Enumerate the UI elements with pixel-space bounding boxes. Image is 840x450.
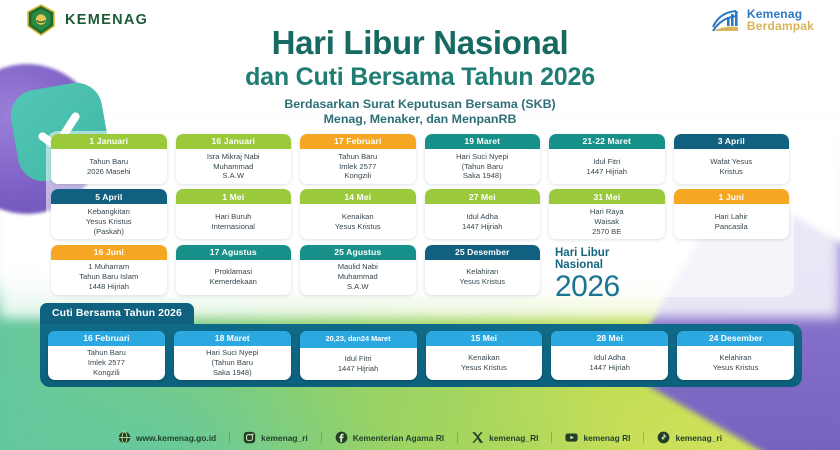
holiday-name: Hari LahirPancasila [674, 204, 790, 239]
page-subtitle: dan Cuti Bersama Tahun 2026 [0, 63, 840, 91]
cuti-name: Tahun BaruImlek 2577Kongzili [48, 346, 165, 380]
holiday-card: 3 AprilWafat YesusKristus [674, 134, 790, 184]
cuti-bersama-grid: 16 FebruariTahun BaruImlek 2577Kongzili1… [40, 324, 802, 387]
holiday-card: 25 AgustusMaulid NabiMuhammadS.A.W [300, 245, 416, 295]
holiday-card: 19 MaretHari Suci Nyepi(Tahun BaruSaka 1… [425, 134, 541, 184]
holiday-card: 14 MeiKenaikanYesus Kristus [300, 189, 416, 239]
holiday-card: 5 AprilKebangkitanYesus Kristus(Paskah) [51, 189, 167, 239]
cuti-card: 24 DesemberKelahiranYesus Kristus [677, 331, 794, 380]
holiday-date: 25 Desember [425, 245, 541, 260]
holiday-name: Hari RayaWaisak2570 BE [549, 204, 665, 239]
holiday-name: Wafat YesusKristus [674, 149, 790, 184]
cuti-card: 28 MeiIdul Adha1447 Hijriah [551, 331, 668, 380]
footer-handle-text: kemenag_RI [489, 433, 538, 443]
national-year-value: 2026 [555, 272, 665, 302]
cuti-date: 18 Maret [174, 331, 291, 346]
cuti-date: 24 Desember [677, 331, 794, 346]
holiday-name: KebangkitanYesus Kristus(Paskah) [51, 204, 167, 239]
holiday-date: 25 Agustus [300, 245, 416, 260]
footer-youtube-item[interactable]: kemenag RI [565, 431, 630, 444]
holiday-card: 1 JuniHari LahirPancasila [674, 189, 790, 239]
holiday-card: 25 DesemberKelahiranYesus Kristus [425, 245, 541, 295]
footer-handle-text: www.kemenag.go.id [136, 433, 216, 443]
poster-root: KEMENAG Kemenag Berdampak [0, 0, 840, 450]
cuti-card: 16 FebruariTahun BaruImlek 2577Kongzili [48, 331, 165, 380]
national-holidays-panel: 1 JanuariTahun Baru2026 Masehi16 Januari… [46, 131, 794, 297]
cuti-bersama-section: Cuti Bersama Tahun 2026 16 FebruariTahun… [40, 303, 802, 387]
youtube-icon [565, 431, 578, 444]
footer-handle-text: Kementerian Agama RI [353, 433, 444, 443]
holiday-card: 17 FebruariTahun BaruImlek 2577Kongzili [300, 134, 416, 184]
page-title: Hari Libur Nasional [0, 26, 840, 61]
holiday-date: 31 Mei [549, 189, 665, 204]
footer-handle-text: kemenag_ri [261, 433, 308, 443]
cuti-date: 20,23, dan24 Maret [300, 331, 417, 348]
holiday-name: ProklamasiKemerdekaan [176, 260, 292, 295]
national-year-label: Hari LiburNasional [555, 247, 665, 273]
holiday-name: Hari BuruhInternasional [176, 204, 292, 239]
cuti-bersama-title: Cuti Bersama Tahun 2026 [40, 303, 194, 324]
holiday-card: 17 AgustusProklamasiKemerdekaan [176, 245, 292, 295]
holiday-date: 16 Januari [176, 134, 292, 149]
website-icon [118, 431, 131, 444]
cuti-card: 15 MeiKenaikanYesus Kristus [426, 331, 543, 380]
footer-x-twitter-item[interactable]: kemenag_RI [471, 431, 538, 444]
facebook-icon [335, 431, 348, 444]
footer-separator [229, 432, 230, 443]
cuti-name: KenaikanYesus Kristus [426, 346, 543, 380]
holiday-date: 17 Februari [300, 134, 416, 149]
holiday-name: KenaikanYesus Kristus [300, 204, 416, 239]
tiktok-icon [657, 431, 670, 444]
holiday-name: Idul Fitri1447 Hijriah [549, 149, 665, 184]
holiday-card: 21-22 MaretIdul Fitri1447 Hijriah [549, 134, 665, 184]
holiday-name: Hari Suci Nyepi(Tahun BaruSaka 1948) [425, 149, 541, 184]
holiday-date: 17 Agustus [176, 245, 292, 260]
holiday-name: Tahun Baru2026 Masehi [51, 149, 167, 184]
footer-separator [321, 432, 322, 443]
holiday-card: 1 JanuariTahun Baru2026 Masehi [51, 134, 167, 184]
cuti-name: Idul Fitri1447 Hijriah [300, 348, 417, 380]
national-year-block: Hari LiburNasional2026 [549, 247, 665, 303]
holiday-name: Idul Adha1447 Hijriah [425, 204, 541, 239]
cuti-name: Hari Suci Nyepi(Tahun BaruSaka 1948) [174, 346, 291, 380]
holiday-date: 1 Januari [51, 134, 167, 149]
holiday-card: 16 Juni1 MuharramTahun Baru Islam1448 Hi… [51, 245, 167, 295]
footer-separator [643, 432, 644, 443]
footer-tiktok-item[interactable]: kemenag_ri [657, 431, 722, 444]
holiday-date: 3 April [674, 134, 790, 149]
footer-handle-text: kemenag RI [583, 433, 630, 443]
legal-basis-line2: Menag, Menaker, dan MenpanRB [0, 112, 840, 128]
footer-website-item[interactable]: www.kemenag.go.id [118, 431, 216, 444]
holiday-name: Isra Mikraj NabiMuhammadS.A.W [176, 149, 292, 184]
footer-separator [551, 432, 552, 443]
holiday-card: 1 MeiHari BuruhInternasional [176, 189, 292, 239]
cuti-name: Idul Adha1447 Hijriah [551, 346, 668, 380]
social-footer: www.kemenag.go.idkemenag_riKementerian A… [0, 431, 840, 444]
legal-basis-line1: Berdasarkan Surat Keputusan Bersama (SKB… [0, 97, 840, 113]
cuti-name: KelahiranYesus Kristus [677, 346, 794, 380]
holiday-name: KelahiranYesus Kristus [425, 260, 541, 295]
holiday-date: 21-22 Maret [549, 134, 665, 149]
national-holidays-grid: 1 JanuariTahun Baru2026 Masehi16 Januari… [46, 131, 794, 297]
holiday-card: 31 MeiHari RayaWaisak2570 BE [549, 189, 665, 239]
holiday-name: Tahun BaruImlek 2577Kongzili [300, 149, 416, 184]
cuti-card: 18 MaretHari Suci Nyepi(Tahun BaruSaka 1… [174, 331, 291, 380]
holiday-name: Maulid NabiMuhammadS.A.W [300, 260, 416, 295]
cuti-date: 15 Mei [426, 331, 543, 346]
footer-handle-text: kemenag_ri [675, 433, 722, 443]
holiday-card: 16 JanuariIsra Mikraj NabiMuhammadS.A.W [176, 134, 292, 184]
page-legal-basis: Berdasarkan Surat Keputusan Bersama (SKB… [0, 97, 840, 128]
x-twitter-icon [471, 431, 484, 444]
footer-facebook-item[interactable]: Kementerian Agama RI [335, 431, 444, 444]
cuti-date: 28 Mei [551, 331, 668, 346]
instagram-icon [243, 431, 256, 444]
cuti-card: 20,23, dan24 MaretIdul Fitri1447 Hijriah [300, 331, 417, 380]
holiday-date: 16 Juni [51, 245, 167, 260]
footer-instagram-item[interactable]: kemenag_ri [243, 431, 308, 444]
holiday-date: 19 Maret [425, 134, 541, 149]
holiday-name: 1 MuharramTahun Baru Islam1448 Hijriah [51, 260, 167, 295]
footer-separator [457, 432, 458, 443]
holiday-date: 14 Mei [300, 189, 416, 204]
holiday-date: 1 Juni [674, 189, 790, 204]
holiday-card: 27 MeiIdul Adha1447 Hijriah [425, 189, 541, 239]
title-block: Hari Libur Nasional dan Cuti Bersama Tah… [0, 26, 840, 128]
holiday-date: 1 Mei [176, 189, 292, 204]
holiday-date: 27 Mei [425, 189, 541, 204]
cuti-date: 16 Februari [48, 331, 165, 346]
holiday-date: 5 April [51, 189, 167, 204]
